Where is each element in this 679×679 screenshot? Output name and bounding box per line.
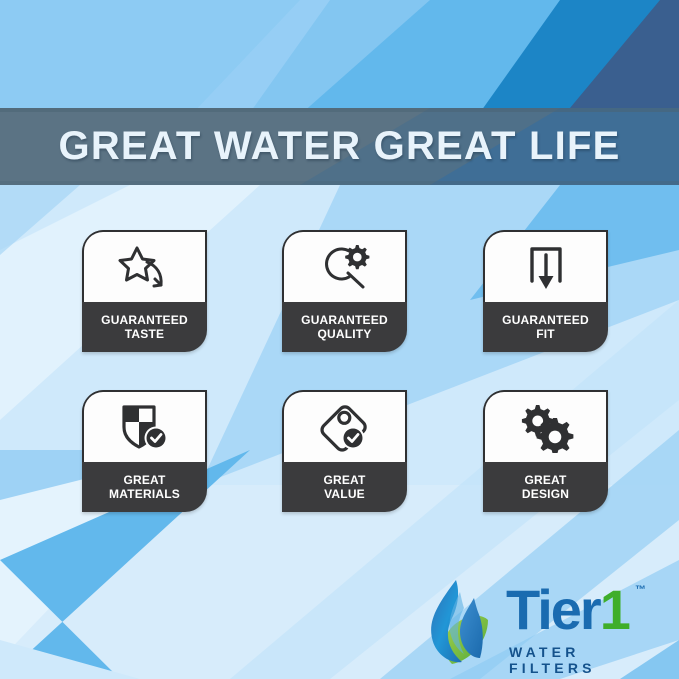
two-gears-icon (483, 390, 608, 462)
price-tag-check-icon (282, 390, 407, 462)
card-label: GUARANTEED TASTE (82, 302, 207, 352)
card-label-line2: DESIGN (522, 487, 569, 501)
card-label-line2: QUALITY (317, 327, 371, 341)
card-label: GUARANTEED QUALITY (282, 302, 407, 352)
card-label-line2: VALUE (324, 487, 365, 501)
checkered-shield-check-icon (82, 390, 207, 462)
card-label: GREAT MATERIALS (82, 462, 207, 512)
promotional-banner-image: GREAT WATER GREAT LIFE GUARANTEED TASTE (0, 0, 679, 679)
card-label: GREAT VALUE (282, 462, 407, 512)
card-label-line1: GREAT (123, 473, 165, 487)
waterdrop-leaf-icon (426, 574, 502, 670)
logo-word-one: 1 (600, 578, 629, 641)
feature-card-guaranteed-taste[interactable]: GUARANTEED TASTE (82, 230, 207, 352)
logo-word-tier: Tier (506, 578, 600, 641)
shooting-star-icon (82, 230, 207, 302)
logo-wordmark: Tier1 (506, 582, 629, 638)
box-down-arrow-icon (483, 230, 608, 302)
card-label-line2: TASTE (125, 327, 164, 341)
card-label-line1: GUARANTEED (502, 313, 589, 327)
card-label: GUARANTEED FIT (483, 302, 608, 352)
feature-card-guaranteed-fit[interactable]: GUARANTEED FIT (483, 230, 608, 352)
brand-logo: Tier1 ™ WATER FILTERS (426, 574, 666, 670)
magnifier-gear-icon (282, 230, 407, 302)
card-label-line1: GREAT (524, 473, 566, 487)
logo-subtitle: WATER FILTERS (509, 644, 666, 676)
feature-card-great-design[interactable]: GREAT DESIGN (483, 390, 608, 512)
card-label-line2: FIT (536, 327, 555, 341)
card-label-line1: GREAT (323, 473, 365, 487)
feature-card-great-value[interactable]: GREAT VALUE (282, 390, 407, 512)
trademark-symbol: ™ (635, 584, 646, 596)
card-label-line1: GUARANTEED (301, 313, 388, 327)
feature-card-great-materials[interactable]: GREAT MATERIALS (82, 390, 207, 512)
feature-card-guaranteed-quality[interactable]: GUARANTEED QUALITY (282, 230, 407, 352)
card-label-line1: GUARANTEED (101, 313, 188, 327)
card-label: GREAT DESIGN (483, 462, 608, 512)
card-label-line2: MATERIALS (109, 487, 180, 501)
